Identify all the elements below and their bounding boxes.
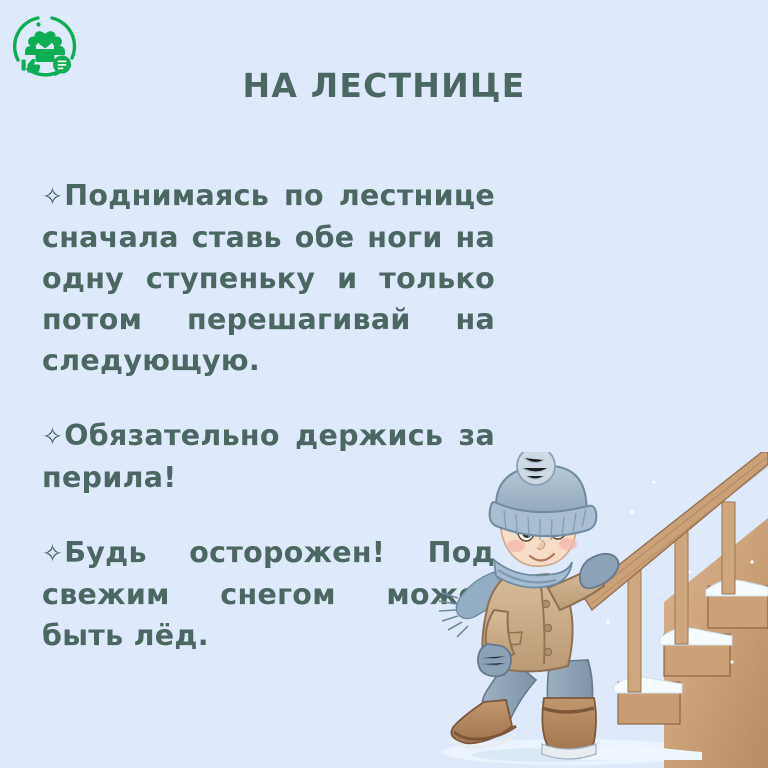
sparkle-bullet-icon: ✧ [42,422,63,451]
safety-tip-text: Будь осторожен! Под свежим снегом может … [42,536,495,652]
sparkle-bullet-icon: ✧ [42,539,63,568]
safety-tips-list: ✧Поднимаясь по лестнице сначала ставь об… [42,175,495,656]
sparkle-bullet-icon: ✧ [42,182,63,211]
safety-tip-text: Обязательно держись за перила! [42,419,495,494]
boy-climbing-snowy-stairs-illustration: Illustrated boy in winter coat, knit hat… [432,452,768,768]
safety-tip-item: ✧Будь осторожен! Под свежим снегом может… [42,532,495,656]
safety-tip-item: ✧Поднимаясь по лестнице сначала ставь об… [42,175,495,381]
page-title: НА ЛЕСТНИЦЕ [0,66,768,105]
safety-tip-item: ✧Обязательно держись за перила! [42,415,495,498]
safety-tip-text: Поднимаясь по лестнице сначала ставь обе… [42,179,495,377]
poster-canvas: Green circular emblem with heart, group … [0,0,768,768]
